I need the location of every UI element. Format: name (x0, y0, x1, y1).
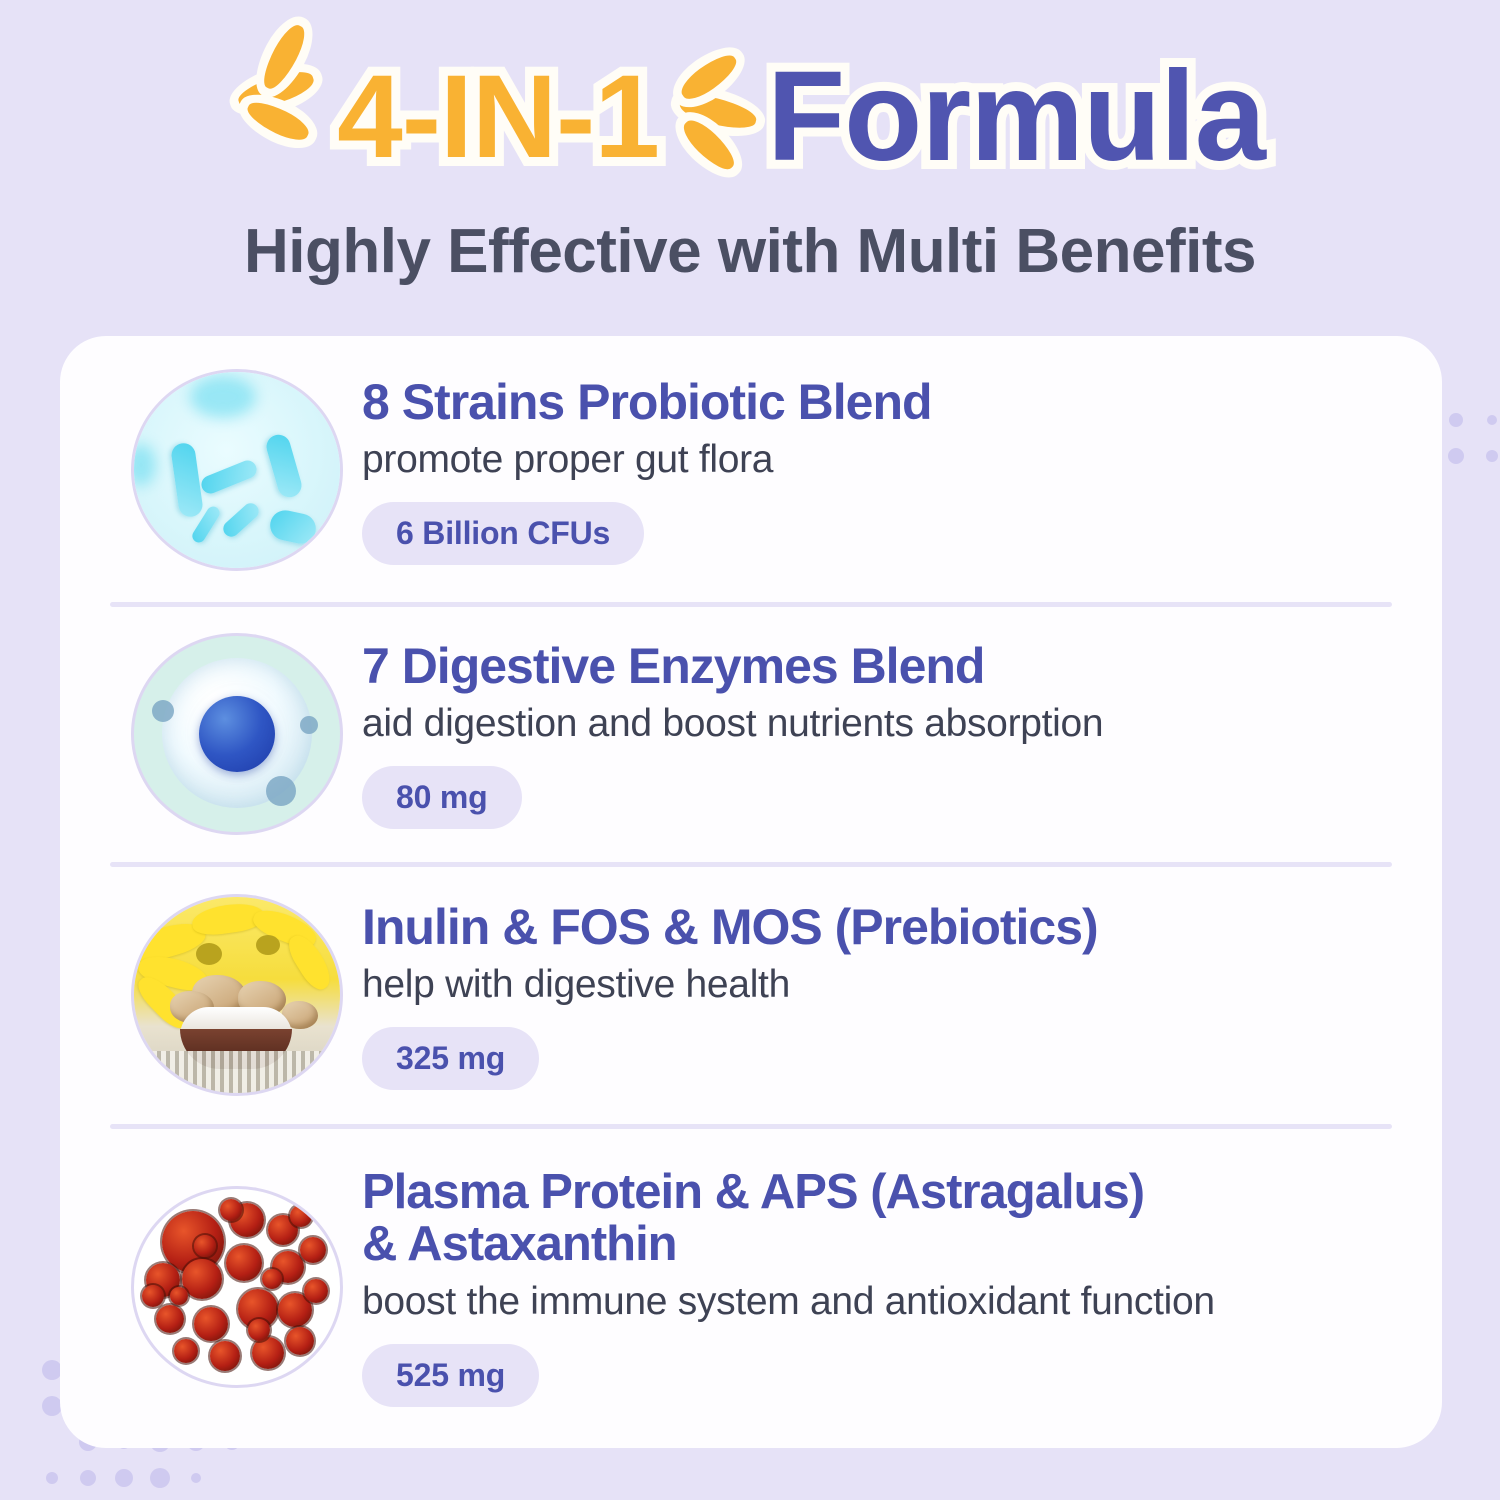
benefit-text: Inulin & FOS & MOS (Prebiotics) help wit… (362, 901, 1442, 1090)
benefit-row-enzymes: 7 Digestive Enzymes Blend aid digestion … (60, 604, 1442, 864)
benefit-row-probiotic: 8 Strains Probiotic Blend promote proper… (60, 336, 1442, 604)
benefit-heading-line1: Plasma Protein & APS (Astragalus) (362, 1167, 1418, 1219)
benefit-text: 7 Digestive Enzymes Blend aid digestion … (362, 640, 1442, 829)
inulin-sunchoke-icon (134, 897, 340, 1093)
icon-container (112, 897, 362, 1093)
dosage-badge: 525 mg (362, 1344, 539, 1407)
title-number: 4-IN-1 (337, 58, 659, 176)
icon-container (112, 372, 362, 568)
dosage-badge: 325 mg (362, 1027, 539, 1090)
dosage-badge: 80 mg (362, 766, 522, 829)
benefit-text: Plasma Protein & APS (Astragalus) & Asta… (362, 1167, 1442, 1407)
benefit-row-prebiotics: Inulin & FOS & MOS (Prebiotics) help wit… (60, 864, 1442, 1126)
infographic-root: 4-IN-1 Formula Highly Effective with Mul… (0, 0, 1500, 1500)
benefit-heading: 7 Digestive Enzymes Blend (362, 640, 1418, 693)
benefit-heading: 8 Strains Probiotic Blend (362, 376, 1418, 429)
benefit-description: aid digestion and boost nutrients absorp… (362, 702, 1418, 746)
page-subtitle: Highly Effective with Multi Benefits (0, 216, 1500, 287)
benefit-description: promote proper gut flora (362, 438, 1418, 482)
benefit-heading: Inulin & FOS & MOS (Prebiotics) (362, 901, 1418, 954)
dosage-badge: 6 Billion CFUs (362, 502, 644, 565)
sparkle-burst-icon-right (665, 47, 761, 187)
benefit-text: 8 Strains Probiotic Blend promote proper… (362, 376, 1442, 565)
icon-container (112, 636, 362, 832)
benefit-heading-line2: & Astaxanthin (362, 1219, 1418, 1271)
enzyme-cell-icon (134, 636, 340, 832)
header: 4-IN-1 Formula Highly Effective with Mul… (0, 0, 1500, 320)
benefit-description: boost the immune system and antioxidant … (362, 1280, 1418, 1324)
title-word: Formula (767, 53, 1265, 181)
benefits-card: 8 Strains Probiotic Blend promote proper… (60, 336, 1442, 1448)
sparkle-burst-icon-left (235, 47, 331, 187)
probiotic-bacteria-icon (134, 372, 340, 568)
benefit-description: help with digestive health (362, 963, 1418, 1007)
icon-container (112, 1189, 362, 1385)
astaxanthin-algae-icon (134, 1189, 340, 1385)
page-title: 4-IN-1 Formula (0, 42, 1500, 192)
benefit-row-astaxanthin: Plasma Protein & APS (Astragalus) & Asta… (60, 1126, 1442, 1448)
